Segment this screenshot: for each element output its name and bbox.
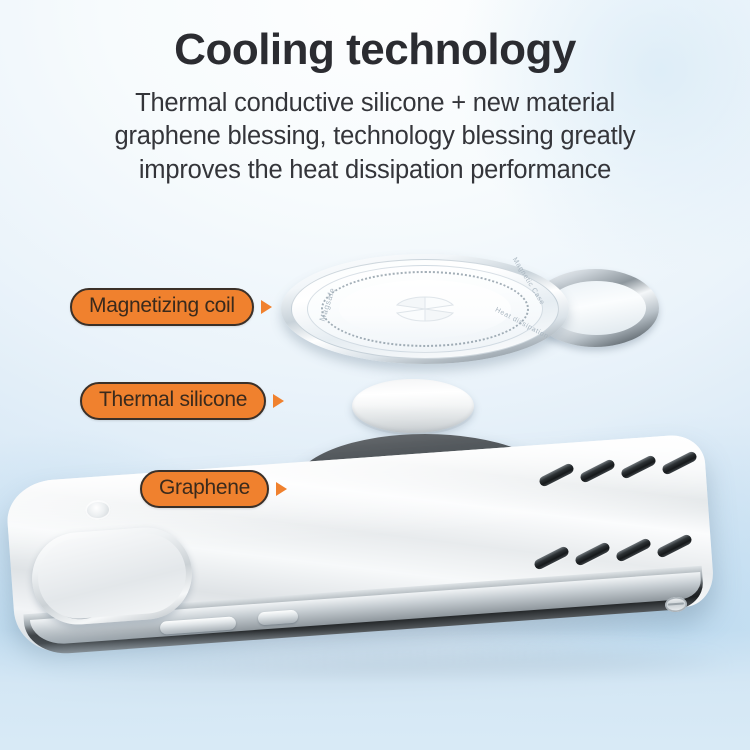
callout-magnetizing-coil[interactable]: Magnetizing coil xyxy=(70,288,272,326)
disc-center-plate xyxy=(339,280,511,338)
microphone-dot xyxy=(104,548,111,555)
badge-label-thermal-silicone[interactable]: Thermal silicone xyxy=(80,382,266,420)
floor-gradient xyxy=(0,630,750,750)
badge-label-magnetizing-coil[interactable]: Magnetizing coil xyxy=(70,288,254,326)
arrow-right-icon xyxy=(261,300,272,314)
callout-graphene[interactable]: Graphene xyxy=(140,470,287,508)
header-block: Cooling technology Thermal conductive si… xyxy=(0,26,750,188)
subtitle-line-1: Thermal conductive silicone + new materi… xyxy=(34,87,716,121)
camera-lens-2 xyxy=(109,540,175,606)
arrow-right-icon xyxy=(273,394,284,408)
magnetizing-coil-disc: Magsafe Magnetic Case Heat dissipation xyxy=(281,254,569,364)
subtitle-line-3: improves the heat dissipation performanc… xyxy=(34,154,716,188)
page-title: Cooling technology xyxy=(0,26,750,74)
camera-module xyxy=(29,524,195,627)
subtitle-line-2: graphene blessing, technology blessing g… xyxy=(34,120,716,154)
pinwheel-icon xyxy=(389,294,461,324)
badge-label-graphene[interactable]: Graphene xyxy=(140,470,269,508)
magsafe-ring-holder: Magsafe Magnetic Case Heat dissipation xyxy=(281,248,661,368)
silicone-disc-edge xyxy=(352,385,474,435)
arrow-right-icon xyxy=(276,482,287,496)
thermal-silicone-disc xyxy=(352,379,474,433)
callout-thermal-silicone[interactable]: Thermal silicone xyxy=(80,382,284,420)
camera-lens-1 xyxy=(47,548,113,614)
speaker-grille-mark xyxy=(664,596,687,613)
infographic-canvas: Cooling technology Thermal conductive si… xyxy=(0,0,750,750)
page-subtitle: Thermal conductive silicone + new materi… xyxy=(0,87,750,189)
